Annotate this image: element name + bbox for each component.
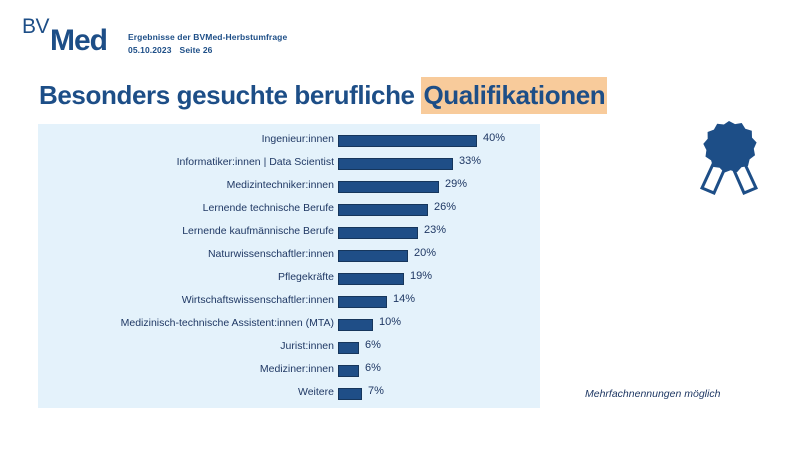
bar-fill — [338, 273, 404, 285]
chart-bar-row: Medizinisch-technische Assistent:innen (… — [38, 314, 540, 337]
bar-value-label: 14% — [393, 293, 415, 305]
header-meta: Ergebnisse der BVMed-Herbstumfrage 05.10… — [128, 31, 287, 56]
bar-value-label: 10% — [379, 316, 401, 328]
bar-fill — [338, 388, 362, 400]
chart-bar-row: Lernende kaufmännische Berufe23% — [38, 222, 540, 245]
bar-fill — [338, 365, 359, 377]
bar-fill — [338, 227, 418, 239]
bar-fill — [338, 158, 453, 170]
logo-text-bv: BV — [22, 15, 49, 39]
page-title: Besonders gesuchte berufliche Qualifikat… — [39, 80, 607, 111]
bar-fill — [338, 342, 359, 354]
chart-footnote: Mehrfachnennungen möglich — [585, 388, 720, 400]
bar-track — [338, 158, 453, 170]
bar-track — [338, 181, 439, 193]
bar-value-label: 23% — [424, 224, 446, 236]
bar-track — [338, 342, 359, 354]
bar-value-label: 29% — [445, 178, 467, 190]
bar-category-label: Naturwissenschaftler:innen — [44, 248, 334, 260]
bar-value-label: 6% — [365, 339, 381, 351]
page-header: BV Med Ergebnisse der BVMed-Herbstumfrag… — [0, 0, 800, 70]
bar-value-label: 6% — [365, 362, 381, 374]
bar-fill — [338, 319, 373, 331]
bar-fill — [338, 296, 387, 308]
chart-bar-row: Mediziner:innen6% — [38, 360, 540, 383]
bar-track — [338, 250, 408, 262]
bar-fill — [338, 181, 439, 193]
bar-category-label: Jurist:innen — [44, 340, 334, 352]
header-date: 05.10.2023 — [128, 45, 172, 55]
bar-track — [338, 204, 428, 216]
chart-bar-row: Informatiker:innen | Data Scientist33% — [38, 153, 540, 176]
bar-category-label: Lernende kaufmännische Berufe — [44, 225, 334, 237]
bar-value-label: 19% — [410, 270, 432, 282]
bar-track — [338, 296, 387, 308]
chart-bar-row: Naturwissenschaftler:innen20% — [38, 245, 540, 268]
header-page-number: 26 — [203, 45, 213, 55]
header-date-page: 05.10.2023Seite 26 — [128, 44, 287, 56]
bvmed-logo: BV Med — [22, 14, 127, 56]
bar-fill — [338, 250, 408, 262]
chart-bar-row: Weitere7% — [38, 383, 540, 406]
bar-category-label: Informatiker:innen | Data Scientist — [44, 156, 334, 168]
bar-fill — [338, 204, 428, 216]
bar-category-label: Wirtschaftswissenschaftler:innen — [44, 294, 334, 306]
header-page-label: Seite — [180, 45, 201, 55]
bar-track — [338, 319, 373, 331]
bar-track — [338, 388, 362, 400]
header-subtitle: Ergebnisse der BVMed-Herbstumfrage — [128, 31, 287, 43]
bar-track — [338, 273, 404, 285]
bar-value-label: 33% — [459, 155, 481, 167]
award-rosette-icon — [692, 118, 766, 198]
bar-track — [338, 135, 477, 147]
bar-value-label: 40% — [483, 132, 505, 144]
bar-track — [338, 365, 359, 377]
chart-bar-row: Medizintechniker:innen29% — [38, 176, 540, 199]
bar-value-label: 7% — [368, 385, 384, 397]
bar-category-label: Medizinisch-technische Assistent:innen (… — [44, 317, 334, 329]
bar-category-label: Lernende technische Berufe — [44, 202, 334, 214]
bar-category-label: Pflegekräfte — [44, 271, 334, 283]
chart-bar-row: Ingenieur:innen40% — [38, 130, 540, 153]
logo-text-med: Med — [50, 24, 107, 58]
chart-bar-row: Jurist:innen6% — [38, 337, 540, 360]
bar-track — [338, 227, 418, 239]
page-title-plain: Besonders gesuchte berufliche — [39, 80, 421, 110]
bar-value-label: 20% — [414, 247, 436, 259]
bar-category-label: Mediziner:innen — [44, 363, 334, 375]
chart-panel: Ingenieur:innen40%Informatiker:innen | D… — [38, 124, 540, 408]
chart-bar-row: Lernende technische Berufe26% — [38, 199, 540, 222]
chart-bar-row: Wirtschaftswissenschaftler:innen14% — [38, 291, 540, 314]
bar-category-label: Ingenieur:innen — [44, 133, 334, 145]
bar-category-label: Medizintechniker:innen — [44, 179, 334, 191]
page-title-highlight: Qualifikationen — [421, 77, 607, 114]
bar-fill — [338, 135, 477, 147]
bar-value-label: 26% — [434, 201, 456, 213]
bar-category-label: Weitere — [44, 386, 334, 398]
chart-bar-row: Pflegekräfte19% — [38, 268, 540, 291]
